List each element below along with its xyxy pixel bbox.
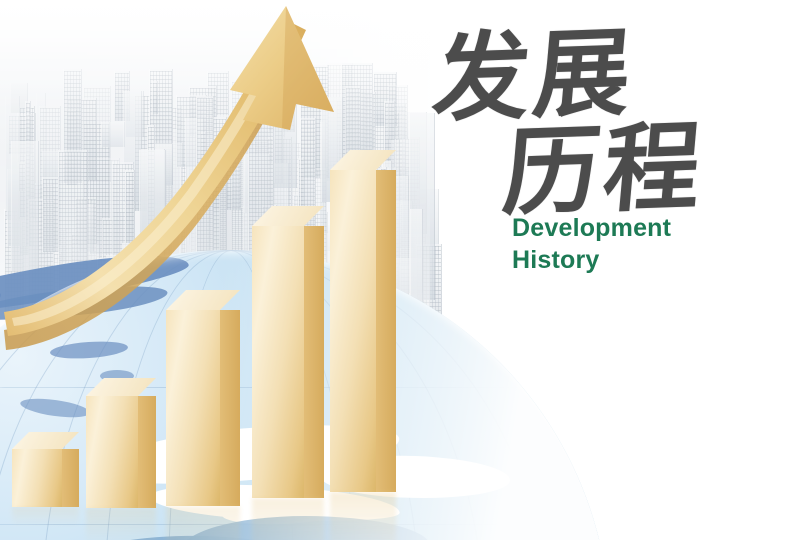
chart-bar-reflection — [330, 492, 396, 540]
chart-bar-reflection — [12, 507, 79, 527]
development-history-banner: 发展 历程 Development History — [0, 0, 800, 540]
chart-bar-side-face — [304, 226, 324, 498]
chart-bar-reflection — [86, 508, 156, 540]
chart-bar-front-face — [252, 226, 304, 498]
headline-calligraphy-line2: 历程 — [499, 119, 708, 222]
chart-bar-front-face — [330, 170, 376, 492]
chart-bar-front-face — [166, 310, 220, 506]
chart-bar — [252, 206, 324, 498]
chart-bar — [86, 378, 156, 508]
chart-bar — [330, 150, 396, 492]
chart-bar-front-face — [86, 396, 138, 508]
chart-bar — [166, 290, 240, 506]
chart-bar-reflection — [166, 506, 240, 540]
chart-bar-side-face — [376, 170, 396, 492]
chart-bar-reflection — [252, 498, 324, 540]
chart-bar-front-face — [12, 449, 62, 507]
chart-bar-side-face — [220, 310, 240, 506]
headline-calligraphy-line1: 发展 — [429, 25, 638, 128]
chart-bar — [12, 432, 79, 507]
chart-bar-side-face — [138, 396, 156, 508]
headline-subtitle: Development History — [512, 212, 671, 276]
chart-bar-side-face — [62, 449, 79, 507]
